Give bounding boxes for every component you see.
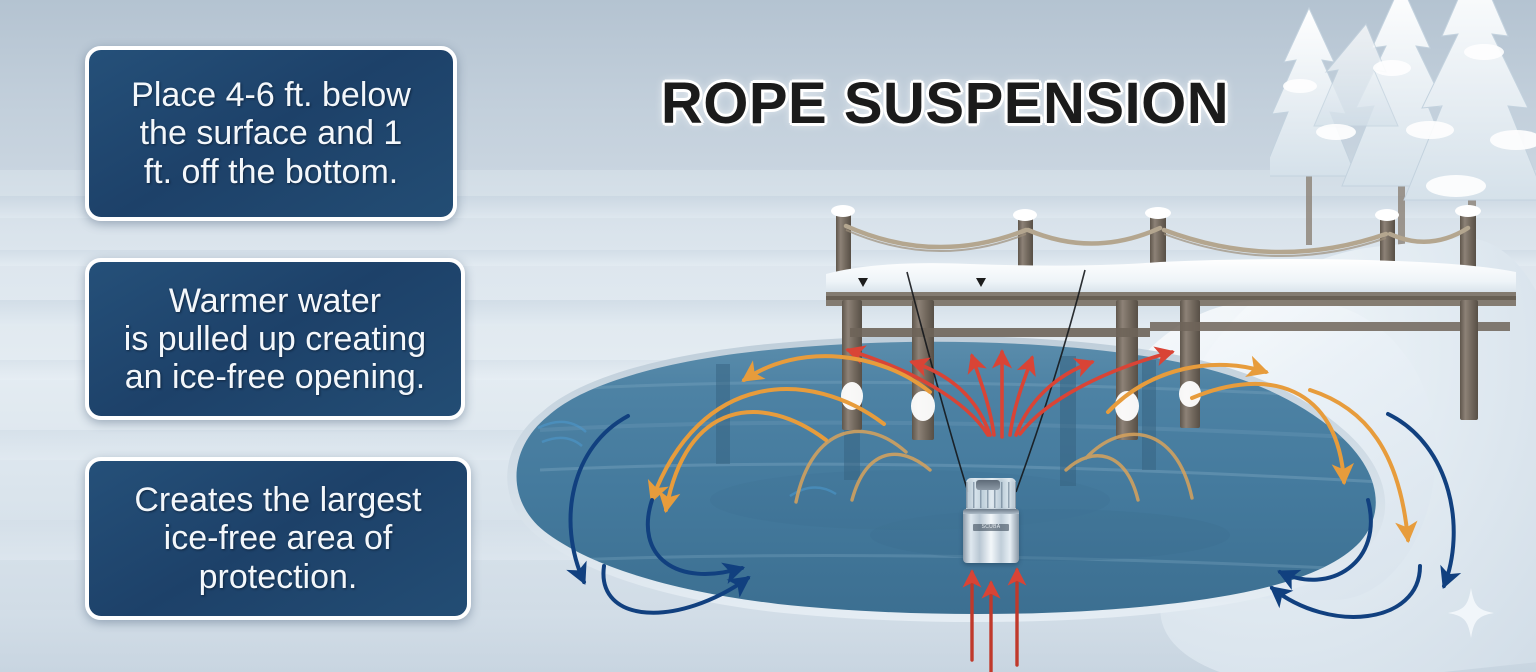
protection-area-card[interactable]: Creates the largest ice-free area of pro… [85, 457, 471, 620]
device-top-fitting [976, 480, 1000, 490]
device-brand-label: SCUBA [973, 524, 1009, 531]
info-card-list: Place 4-6 ft. below the surface and 1 ft… [0, 0, 520, 672]
placement-depth-card[interactable]: Place 4-6 ft. below the surface and 1 ft… [85, 46, 457, 221]
page-title: ROPE SUSPENSION [615, 70, 1275, 137]
card-text: Creates the largest ice-free area of pro… [134, 481, 421, 595]
sparkle-icon [1448, 588, 1494, 638]
red-rising-arrows [848, 350, 1172, 437]
orange-right-faded-arcs [1066, 434, 1192, 500]
red-bottom-arrows [972, 570, 1017, 672]
orange-left-arrows [652, 356, 930, 510]
navy-right-arrows [1272, 414, 1454, 617]
navy-left-arrows [571, 416, 748, 613]
orange-left-faded-arcs [796, 431, 930, 502]
infographic-canvas: SCUBA ROPE SUSPENSION Place 4-6 ft. belo… [0, 0, 1536, 672]
card-text: Place 4-6 ft. below the surface and 1 ft… [131, 76, 411, 190]
orange-right-arrows [1108, 365, 1408, 540]
card-text: Warmer water is pulled up creating an ic… [124, 282, 426, 396]
device-motor-body: SCUBA [963, 509, 1019, 563]
warm-water-card[interactable]: Warmer water is pulled up creating an ic… [85, 258, 465, 420]
de-icer-device: SCUBA [960, 478, 1022, 564]
